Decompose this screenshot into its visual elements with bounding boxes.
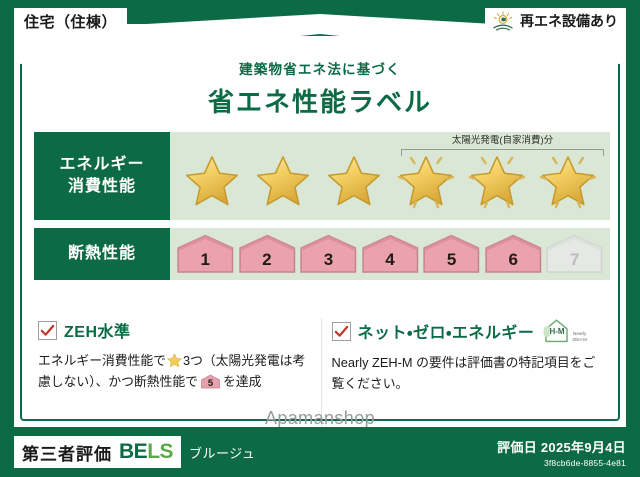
renewable-equipment-label: 再エネ設備あり — [520, 11, 618, 31]
building-type-label: 住宅（住棟） — [24, 11, 117, 32]
insulation-level-2: 2 — [238, 234, 297, 274]
svg-text:H-M: H-M — [550, 327, 565, 336]
bels-wordmark-part2: LS — [147, 440, 173, 463]
zeh-standard-title: ZEH水準 — [64, 318, 131, 342]
insulation-level-number: 1 — [201, 251, 210, 274]
star-3 — [327, 154, 381, 210]
zeh-m-sublabel-line1: Nearly — [573, 331, 586, 336]
insulation-level-number: 4 — [385, 251, 394, 274]
evaluation-date: 評価日 2025年9月4日 — [497, 437, 626, 456]
zeh-m-sublabel-line2: ZEH-M — [572, 337, 587, 342]
insulation-level-number: 3 — [324, 251, 333, 274]
solar-caption: 太陽光発電(自家消費)分 — [401, 136, 604, 146]
insulation-performance-label: 断熱性能 — [34, 228, 170, 280]
net-zero-energy-head: ネット・ゼロ・エネルギー H-M Nearly ZEH-M — [332, 318, 605, 344]
zeh-body-part1: エネルギー消費性能で — [38, 353, 166, 368]
star-1 — [185, 154, 239, 210]
inline-star-icon — [167, 353, 182, 368]
evaluation-info: 評価日 2025年9月4日 3f8cb6de-8855-4e81 — [497, 437, 626, 468]
checkbox-checked-icon — [38, 321, 57, 340]
star-4 — [399, 154, 453, 210]
renewable-equipment-badge: 再エネ設備あり — [485, 8, 626, 34]
evaluation-id: 3f8cb6de-8855-4e81 — [497, 458, 626, 468]
net-zero-energy-body: Nearly ZEH-M の要件は評価書の特記項目をご覧ください。 — [332, 352, 605, 394]
bels-wordmark: BELS — [119, 440, 173, 464]
energy-performance-label-line2: 消費性能 — [68, 176, 136, 198]
energy-performance-body: 太陽光発電(自家消費)分 — [170, 132, 610, 220]
zeh-m-house-icon: H-M — [543, 318, 571, 344]
insulation-level-1: 1 — [176, 234, 235, 274]
insulation-level-3: 3 — [299, 234, 358, 274]
energy-performance-label: エネルギー 消費性能 — [34, 132, 170, 220]
inline-house-number: 5 — [200, 374, 221, 389]
net-zero-energy-title: ネット・ゼロ・エネルギー — [358, 319, 535, 343]
energy-performance-label-line1: エネルギー — [59, 154, 144, 176]
bels-third-party-label: 第三者評価 — [22, 440, 112, 465]
bels-wordmark-part1: BE — [119, 440, 147, 463]
star-5 — [470, 154, 524, 210]
insulation-level-7: 7 — [545, 234, 604, 274]
energy-label-root: 住宅（住棟） 再エネ設備あり 建築物省エネ法に基づく 省エネ性能ラベル — [0, 0, 640, 477]
footer-bar: 第三者評価 BELS ブルージュ 評価日 2025年9月4日 3f8cb6de-… — [0, 427, 640, 477]
ratings-area: エネルギー 消費性能 太陽光発電(自家消費)分 — [34, 132, 610, 280]
insulation-level-6: 6 — [484, 234, 543, 274]
insulation-level-number: 7 — [570, 251, 579, 274]
zeh-standard-body: エネルギー消費性能で 3つ（太陽光発電は考慮しない）、かつ断熱性能で 5 を達成 — [38, 350, 311, 392]
zeh-standard-head: ZEH水準 — [38, 318, 311, 342]
label-title: 省エネ性能ラベル — [0, 82, 640, 119]
inline-house-badge: 5 — [200, 374, 221, 389]
insulation-level-scale: 1 2 3 4 5 6 — [170, 232, 610, 276]
property-name: ブルージュ — [189, 443, 255, 462]
insulation-level-number: 6 — [508, 251, 517, 274]
insulation-performance-row: 断熱性能 1 2 3 4 — [34, 228, 610, 280]
sun-icon — [491, 11, 515, 31]
insulation-level-number: 2 — [262, 251, 271, 274]
insulation-level-number: 5 — [447, 251, 456, 274]
insulation-level-4: 4 — [361, 234, 420, 274]
star-2 — [256, 154, 310, 210]
energy-performance-row: エネルギー 消費性能 太陽光発電(自家消費)分 — [34, 132, 610, 220]
star-6 — [541, 154, 595, 210]
insulation-level-5: 5 — [422, 234, 481, 274]
checkbox-checked-icon — [332, 322, 351, 341]
bels-logo: 第三者評価 BELS — [14, 436, 181, 468]
label-subtitle: 建築物省エネ法に基づく — [0, 58, 640, 78]
zeh-m-mark: H-M Nearly ZEH-M — [543, 318, 587, 344]
zeh-m-sublabel: Nearly ZEH-M — [572, 331, 587, 344]
zeh-body-part2: を達成 — [223, 374, 261, 389]
building-type-badge: 住宅（住棟） — [14, 8, 127, 34]
insulation-performance-body: 1 2 3 4 5 6 — [170, 228, 610, 280]
insulation-performance-label-text: 断熱性能 — [68, 243, 136, 265]
title-block: 建築物省エネ法に基づく 省エネ性能ラベル — [0, 58, 640, 119]
